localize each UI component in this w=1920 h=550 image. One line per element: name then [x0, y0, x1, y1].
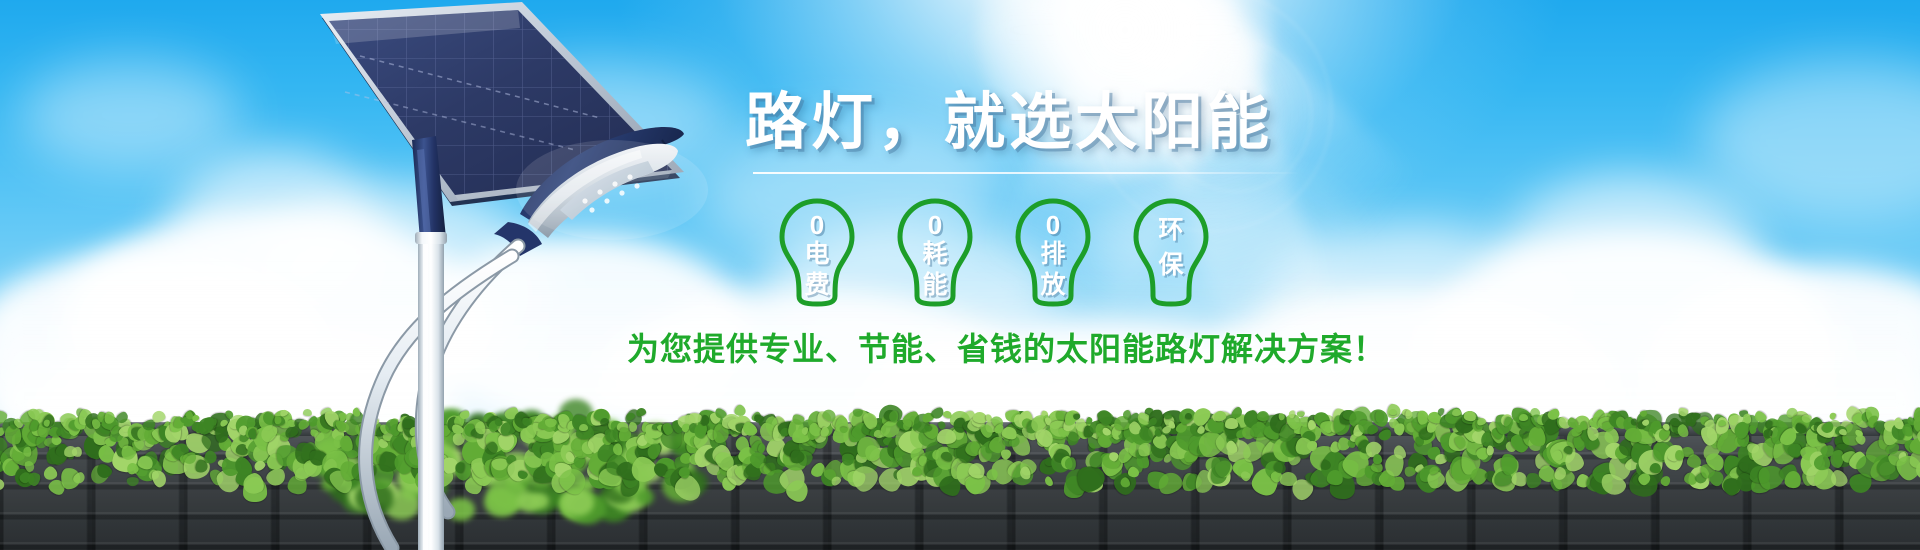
- tile-wall: [0, 422, 1920, 550]
- promotional-banner: 路灯，就选太阳能 0 电 费 0 耗 能: [0, 0, 1920, 550]
- feature-badge-list: 0 电 费 0 耗 能 0 排 放: [771, 196, 1445, 308]
- feature-badge: 0 耗 能: [889, 196, 981, 308]
- badge-char: 排: [1040, 240, 1065, 269]
- badge-char: 耗: [922, 240, 947, 269]
- badge-char: 保: [1158, 251, 1183, 280]
- badge-char: 能: [922, 271, 947, 300]
- badge-char: 电: [804, 240, 829, 269]
- subheadline: 为您提供专业、节能、省钱的太阳能路灯解决方案！: [627, 330, 1445, 368]
- badge-zero: 0: [810, 212, 824, 238]
- cloud: [470, 60, 730, 180]
- feature-badge: 0 排 放: [1007, 196, 1099, 308]
- feature-badge: 0 电 费: [771, 196, 863, 308]
- badge-char: 环: [1158, 216, 1183, 245]
- divider: [753, 172, 1301, 174]
- badge-zero: 0: [928, 212, 942, 238]
- copy-block: 路灯，就选太阳能 0 电 费 0 耗 能: [745, 88, 1445, 368]
- badge-zero: 0: [1046, 212, 1060, 238]
- badge-char: 放: [1040, 271, 1065, 300]
- cloud: [20, 60, 240, 170]
- page-title: 路灯，就选太阳能: [745, 88, 1445, 158]
- badge-char: 费: [804, 271, 829, 300]
- feature-badge: 环 保: [1125, 196, 1217, 308]
